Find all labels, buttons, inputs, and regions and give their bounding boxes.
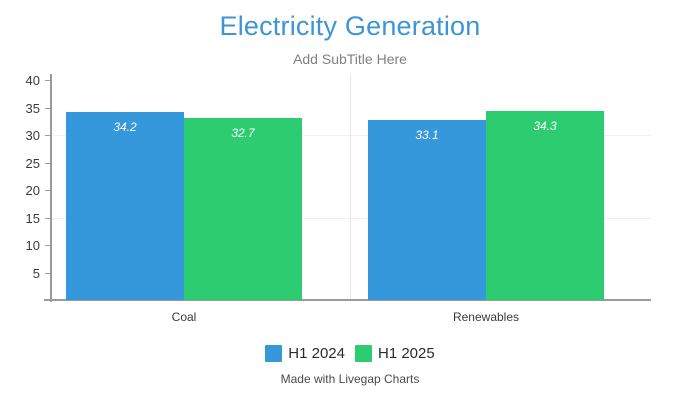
bar-value-label: 33.1 <box>368 129 486 142</box>
bar[interactable]: 34.3 <box>486 111 604 300</box>
y-axis-tick <box>45 190 52 191</box>
x-axis-category-label: Renewables <box>368 310 604 324</box>
y-axis-tick-label: 40 <box>0 74 40 87</box>
legend-item[interactable]: H1 2025 <box>355 345 435 362</box>
y-axis-tick-label: 5 <box>0 267 40 280</box>
category-group-divider <box>350 74 351 300</box>
chart-footer-attribution: Made with Livegap Charts <box>0 372 700 386</box>
y-axis-tick <box>45 273 52 274</box>
y-axis-tick <box>45 80 52 81</box>
legend-swatch-icon <box>265 345 282 362</box>
chart-title: Electricity Generation <box>0 10 700 42</box>
y-axis-tick <box>45 108 52 109</box>
y-axis-tick <box>45 135 52 136</box>
y-axis-tick-label: 15 <box>0 212 40 225</box>
y-axis-tick-label: 35 <box>0 102 40 115</box>
chart-legend: H1 2024H1 2025 <box>0 345 700 362</box>
chart-container: Electricity Generation Add SubTitle Here… <box>0 0 700 400</box>
bar[interactable]: 34.2 <box>66 112 184 300</box>
bar[interactable]: 33.1 <box>368 120 486 300</box>
y-axis-tick <box>45 245 52 246</box>
legend-label: H1 2025 <box>378 345 435 362</box>
y-axis-tick-label: 30 <box>0 129 40 142</box>
bar[interactable]: 32.7 <box>184 118 302 300</box>
x-axis-category-label: Coal <box>66 310 302 324</box>
bar-value-label: 34.3 <box>486 120 604 133</box>
legend-item[interactable]: H1 2024 <box>265 345 345 362</box>
legend-label: H1 2024 <box>288 345 345 362</box>
y-axis-tick-label: 10 <box>0 239 40 252</box>
y-axis-tick-label: 20 <box>0 184 40 197</box>
bar-value-label: 34.2 <box>66 121 184 134</box>
bar-value-label: 32.7 <box>184 127 302 140</box>
y-axis-tick <box>45 218 52 219</box>
chart-subtitle: Add SubTitle Here <box>0 51 700 68</box>
legend-swatch-icon <box>355 345 372 362</box>
y-axis-tick-label: 25 <box>0 157 40 170</box>
y-axis-tick <box>45 163 52 164</box>
